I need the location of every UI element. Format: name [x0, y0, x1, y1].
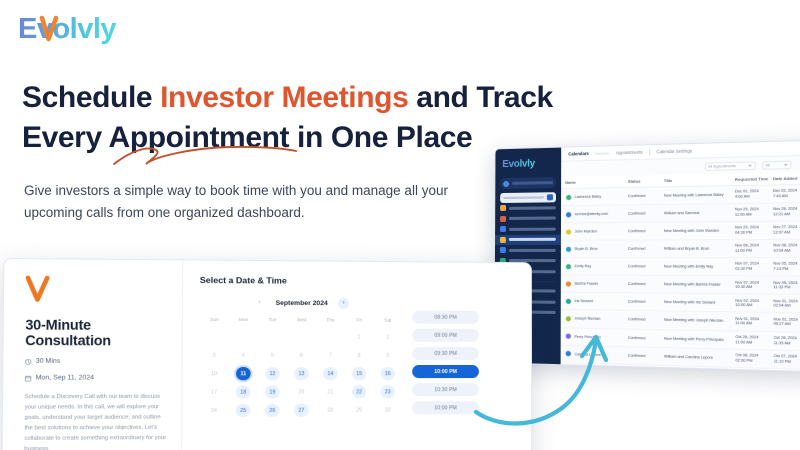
- table-row[interactable]: Bryan B. BrunConfirmedWilliam and Bryan …: [561, 239, 800, 258]
- calendar-day-number: 10: [207, 367, 221, 381]
- calendar-day-5: 5: [258, 347, 287, 364]
- contacts-icon: [500, 247, 506, 253]
- filter-appointments-value: All Appointments: [708, 163, 736, 168]
- cell-name: Joseph Nierdan: [561, 310, 626, 329]
- headline-line1-part1: Schedule: [22, 81, 160, 114]
- filter-all-select[interactable]: All: [762, 160, 791, 169]
- column-name[interactable]: Name: [561, 176, 626, 189]
- avatar: [565, 193, 572, 200]
- calendar-day-number: 29: [352, 403, 366, 417]
- v-checkmark-icon: [26, 276, 50, 303]
- event-description: Schedule a Discovery Call with our team …: [24, 393, 166, 450]
- sidebar-item-label: [509, 249, 556, 252]
- time-slot-4[interactable]: 10:30 PM: [412, 383, 479, 396]
- cell-date-added: Nov 01, 202406:27 AM: [771, 313, 800, 332]
- calendar-weekday-fri: Fri: [345, 314, 374, 324]
- time-slot-list: 08:30 PM09:00 PM09:30 PM10:00 PM10:30 PM…: [412, 296, 479, 418]
- calendar-weekday-sat: Sat: [374, 314, 403, 324]
- cell-name: Perry Principato: [561, 327, 626, 346]
- table-row[interactable]: Emily RayConfirmedNew Meeting with Emily…: [561, 258, 800, 277]
- status-badge: Confirmed: [626, 240, 662, 258]
- sidebar-item-label: [509, 217, 556, 220]
- calendar-day-number: 8: [352, 349, 366, 363]
- appointments-table-body: Lawrence BateyConfirmedNew Meeting with …: [561, 184, 800, 370]
- calendar-day-14[interactable]: 14: [316, 365, 345, 382]
- evolvly-logo-mark: Evolvly: [18, 12, 136, 46]
- sidebar-item-label: [509, 228, 556, 231]
- calendar-weekday-sun: Sun: [200, 314, 229, 324]
- status-badge: Confirmed: [626, 205, 662, 223]
- contact-name: Carolina Lepore: [574, 352, 600, 357]
- search-placeholder-bar: [503, 196, 544, 199]
- calendar-day-number: 5: [265, 348, 279, 362]
- calendar-day-7: 7: [316, 347, 345, 364]
- calendar-day-21: 21: [316, 383, 345, 400]
- calendar-day-grid: 1234567891011121314151617181920212223242…: [199, 328, 402, 419]
- calendar-day-empty: [258, 328, 287, 345]
- avatar: [565, 315, 572, 322]
- contact-name: Iris Seward: [575, 299, 594, 303]
- calendar-day-number: 1: [352, 330, 366, 344]
- contact-name: Emily Ray: [575, 264, 592, 268]
- account-avatar-icon: [503, 180, 509, 186]
- calendar-day-empty: [316, 328, 345, 345]
- calendar-day-empty: [287, 328, 316, 345]
- cell-name: Carolina Lepore: [561, 345, 626, 364]
- calendar-weekday-thu: Thu: [316, 314, 345, 324]
- calendar-day-10: 10: [199, 365, 228, 382]
- calendar-day-number: 19: [265, 385, 279, 399]
- avatar: [565, 263, 572, 270]
- calendar-day-number: 3: [207, 348, 221, 362]
- table-row[interactable]: service@aterity.comConfirmedWilliam and …: [561, 202, 800, 223]
- calendar-day-11[interactable]: 11: [229, 365, 258, 382]
- headline-line1-part2: and Track: [408, 81, 552, 114]
- cell-date-added: Nov 08, 202410:04 AM: [771, 240, 800, 258]
- chevron-down-icon: [748, 164, 752, 166]
- table-row[interactable]: John MaxdenConfirmedNew Meeting with Joh…: [561, 221, 800, 241]
- cell-requested-time: Nov 07, 202410:30 AM: [733, 276, 771, 294]
- calendar-weekday-mon: Mon: [229, 314, 258, 324]
- event-title: 30-Minute Consultation: [25, 317, 167, 348]
- contact-name: Bryan B. Brun: [575, 247, 598, 251]
- chevron-down-icon: [784, 163, 789, 165]
- svg-text:Evolvly: Evolvly: [18, 13, 116, 45]
- cell-title: William and Carolina Lepore: [662, 347, 733, 367]
- calendar-day-number: 11: [236, 367, 250, 381]
- calendar-day-16[interactable]: 16: [373, 365, 402, 382]
- avatar: [565, 298, 572, 305]
- launchpad-icon: [500, 205, 506, 211]
- booking-widget: 30-Minute Consultation 30 Mins Mon, Sep …: [1, 258, 532, 450]
- calendar-day-number: 27: [294, 403, 308, 417]
- tab-vertical-separator: [649, 148, 650, 155]
- clock-icon: [25, 358, 32, 364]
- status-badge: Confirmed: [626, 346, 662, 365]
- calendar-weekday-wed: Wed: [287, 314, 316, 324]
- dashboard-account-switcher[interactable]: [500, 177, 556, 189]
- calendar-day-17: 17: [199, 383, 228, 400]
- cell-requested-time: Nov 29, 202411:00 AM: [733, 203, 771, 222]
- sidebar-item-label: [509, 206, 556, 209]
- sidebar-item-launchpad[interactable]: [495, 202, 561, 213]
- cell-title: New Meeting with Perry Principato: [662, 329, 733, 348]
- calendar-day-number: 30: [381, 403, 395, 417]
- calendar-day-15[interactable]: 15: [345, 365, 374, 382]
- calendar-day-number: 28: [323, 403, 337, 417]
- calendar-month-label: September 2024: [276, 299, 328, 306]
- calendar-day-number: 12: [265, 367, 279, 381]
- calendar-day-28: 28: [316, 402, 345, 419]
- avatar: [565, 228, 572, 235]
- filter-appointments-select[interactable]: All Appointments: [705, 161, 756, 171]
- cell-requested-time: Nov 07, 202402:30 PM: [733, 258, 771, 276]
- cell-date-added: Nov 27, 202412:07 AM: [771, 221, 800, 240]
- cell-title: New Meeting with Joseph Nierdan: [662, 311, 733, 330]
- event-date-label: Mon, Sep 11, 2024: [36, 374, 94, 381]
- contact-name: John Maxden: [575, 230, 597, 234]
- evolvly-logo: Evolvly: [18, 12, 136, 46]
- calendar-day-number: 18: [236, 385, 250, 399]
- calendar-day-23[interactable]: 23: [373, 383, 402, 400]
- calendar-day-number: 9: [381, 349, 395, 363]
- conversations-icon: [500, 226, 506, 232]
- calendar-day-number: 7: [323, 348, 337, 362]
- calendar-day-9: 9: [373, 347, 402, 364]
- page-headline: Schedule Investor Meetings and Track Eve…: [22, 78, 582, 158]
- calendar-day-number: 2: [381, 330, 395, 344]
- cell-title: William and Bryan B. Brun: [662, 240, 733, 258]
- cell-date-added: Oct 28, 202411:35 AM: [771, 331, 800, 350]
- calendar-weekday-row: SunMonTueWedThuFriSat: [200, 314, 402, 325]
- cell-date-added: Nov 05, 202411:33 PM: [771, 276, 800, 295]
- calendar-day-number: 26: [265, 403, 279, 417]
- cell-name: Barbra Frasier: [561, 275, 626, 293]
- booking-date-time-picker: Select a Date & Time ‹ September 2024 › …: [182, 260, 531, 450]
- calendar-day-number: 25: [236, 404, 250, 418]
- calendar-and-slots: ‹ September 2024 › SunMonTueWedThuFriSat…: [199, 295, 519, 419]
- cell-date-added: Nov 05, 20247:13 PM: [771, 258, 800, 276]
- status-badge: Confirmed: [626, 222, 662, 240]
- cell-title: New Meeting with Barbra Frasier: [662, 276, 733, 294]
- calendar-day-number: 15: [352, 367, 366, 381]
- landing-page-screenshot: Evolvly Schedule Investor Meetings and T…: [0, 0, 800, 450]
- cell-requested-time: Nov 08, 202411:00 PM: [733, 240, 771, 258]
- status-badge: Confirmed: [626, 311, 662, 329]
- calendar-day-empty: [229, 328, 258, 345]
- headline-underline-swoosh: [110, 142, 300, 168]
- status-badge: Confirmed: [626, 293, 662, 311]
- contact-name: Joseph Nierdan: [575, 317, 601, 322]
- calendar-day-19[interactable]: 19: [258, 383, 287, 400]
- column-requested-time[interactable]: Requested Time: [733, 173, 771, 186]
- calendar: ‹ September 2024 › SunMonTueWedThuFriSat…: [199, 295, 402, 419]
- cell-title: New Meeting with Emily Ray: [662, 258, 733, 276]
- sidebar-item-calendars[interactable]: [495, 234, 561, 245]
- status-badge: Confirmed: [626, 275, 662, 293]
- tab-appointments[interactable]: Appointments: [616, 150, 643, 156]
- cell-title: New Meeting with Lawrence Batey: [662, 186, 733, 205]
- contact-name: service@aterity.com: [575, 212, 608, 216]
- avatar: [565, 211, 572, 218]
- cell-requested-time: Nov 29, 202404:30 PM: [733, 221, 771, 239]
- avatar: [565, 246, 572, 253]
- cell-name: John Maxden: [561, 223, 626, 241]
- calendar-day-3: 3: [199, 346, 228, 363]
- cell-name: Iris Seward: [561, 293, 626, 311]
- time-slot-0[interactable]: 08:30 PM: [412, 311, 479, 324]
- cell-requested-time: Oct 28, 202411:00 AM: [733, 330, 771, 349]
- calendar-day-30: 30: [373, 401, 402, 418]
- cell-name: Lawrence Batey: [561, 187, 626, 205]
- calendar-day-27[interactable]: 27: [287, 402, 316, 419]
- calendar-day-number: 6: [295, 348, 309, 362]
- cell-requested-time: Dec 02, 20244:00 AM: [733, 185, 771, 204]
- sidebar-item-conversations[interactable]: [495, 224, 561, 235]
- tab-calendar-settings[interactable]: Calendar Settings: [656, 148, 692, 154]
- cell-date-added: Nov 01, 202402:04 AM: [771, 294, 800, 313]
- calendar-day-24: 24: [199, 402, 228, 420]
- time-slot-2[interactable]: 09:30 PM: [412, 347, 479, 360]
- time-slot-1[interactable]: 09:00 PM: [412, 329, 479, 342]
- cell-name: Emily Ray: [561, 258, 626, 276]
- search-icon: [547, 194, 553, 200]
- cell-requested-time: Nov 01, 202411:00 AM: [733, 312, 771, 331]
- avatar: [565, 280, 572, 287]
- event-date: Mon, Sep 11, 2024: [25, 374, 167, 381]
- dashboard-sidebar-logo: Evolvly: [502, 154, 561, 173]
- calendar-day-22[interactable]: 22: [345, 383, 374, 400]
- table-row[interactable]: Carolina LeporeConfirmedWilliam and Caro…: [561, 345, 800, 370]
- dashboard-main-panel: Calendars Appointments Calendar Settings…: [561, 140, 800, 372]
- calendar-day-number: 17: [207, 385, 221, 399]
- sidebar-item-contacts[interactable]: [495, 245, 561, 256]
- calendar-day-25[interactable]: 25: [228, 402, 257, 420]
- calendar-weekday-tue: Tue: [258, 314, 287, 324]
- calendar-day-number: 22: [352, 385, 366, 399]
- event-duration-label: 30 Mins: [36, 358, 61, 365]
- calendar-day-number: 16: [381, 367, 395, 381]
- next-month-button[interactable]: ›: [338, 298, 349, 309]
- cell-date-added: Nov 28, 202412:21 AM: [771, 203, 800, 222]
- calendar-day-number: 21: [323, 385, 337, 399]
- tab-divider-line: [595, 152, 609, 154]
- calendar-day-12[interactable]: 12: [258, 365, 287, 382]
- status-badge: Confirmed: [626, 187, 662, 205]
- calendar-day-26[interactable]: 26: [258, 402, 287, 419]
- event-duration: 30 Mins: [25, 358, 167, 365]
- time-slot-3[interactable]: 10:00 PM: [412, 365, 479, 378]
- calendar-icon: [25, 375, 32, 381]
- calendar-day-8: 8: [345, 347, 374, 364]
- page-subheadline: Give investors a simple way to book time…: [24, 180, 454, 224]
- calendars-icon: [500, 237, 506, 243]
- calendar-day-18[interactable]: 18: [229, 383, 258, 400]
- calendar-day-number: 20: [294, 385, 308, 399]
- calendar-day-number: 23: [381, 385, 395, 399]
- contact-name: Lawrence Batey: [575, 195, 601, 199]
- tab-calendars[interactable]: Calendars: [568, 151, 589, 157]
- status-badge: Confirmed: [626, 258, 662, 276]
- calendar-day-1: 1: [345, 328, 374, 345]
- cell-name: Bryan B. Brun: [561, 240, 626, 258]
- cell-title: William and Samona: [662, 204, 733, 223]
- prev-month-button[interactable]: ‹: [254, 297, 265, 308]
- contact-name: Barbra Frasier: [575, 282, 599, 286]
- contact-name: Perry Principato: [574, 334, 600, 339]
- cell-name: service@aterity.com: [561, 205, 626, 223]
- cell-date-added: Oct 07, 202411:10 PM: [771, 350, 800, 369]
- cell-requested-time: Oct 08, 202402:00 PM: [733, 349, 771, 368]
- cell-title: New Meeting with Iris Seward: [662, 293, 733, 312]
- avatar: [565, 333, 572, 340]
- filter-all-value: All: [766, 163, 770, 167]
- status-badge: Confirmed: [626, 329, 662, 348]
- calendar-day-6: 6: [287, 347, 316, 364]
- cell-requested-time: Nov 02, 202410:00 AM: [733, 294, 771, 313]
- calendar-day-2: 2: [373, 329, 402, 346]
- account-name-placeholder: [512, 181, 553, 184]
- calendar-day-number: 14: [323, 367, 337, 381]
- time-slot-5[interactable]: 10:00 PM: [412, 401, 479, 414]
- calendar-header: ‹ September 2024 ›: [200, 295, 402, 310]
- dashboard-mockup: Evolvly Calendars Appointments Calendar …: [493, 139, 800, 373]
- headline-accent: Investor Meetings: [160, 81, 408, 114]
- column-date-added[interactable]: Date Added: [771, 172, 800, 185]
- calendar-day-29: 29: [345, 401, 374, 418]
- calendar-day-number: 24: [207, 404, 221, 418]
- calendar-day-number: 4: [236, 348, 250, 362]
- booking-event-details: 30-Minute Consultation 30 Mins Mon, Sep …: [2, 259, 183, 450]
- calendar-day-empty: [200, 328, 229, 345]
- calendar-day-4: 4: [229, 347, 258, 364]
- cell-title: New Meeting with John Maxden: [662, 222, 733, 240]
- sidebar-item-dashboard[interactable]: [495, 213, 561, 224]
- dashboard-icon: [500, 216, 506, 222]
- calendar-day-13[interactable]: 13: [287, 365, 316, 382]
- calendar-day-number: 13: [294, 367, 308, 381]
- dashboard-logo-text: Evolvly: [502, 158, 535, 170]
- calendar-day-20: 20: [287, 383, 316, 400]
- avatar: [565, 350, 572, 357]
- appointments-table: Name Status Title Requested Time Date Ad…: [561, 171, 800, 370]
- sidebar-item-label: [509, 238, 556, 241]
- cell-date-added: Dec 02, 20247:44 AM: [771, 184, 800, 203]
- column-status[interactable]: Status: [626, 175, 662, 188]
- picker-section-title: Select a Date & Time: [200, 275, 519, 287]
